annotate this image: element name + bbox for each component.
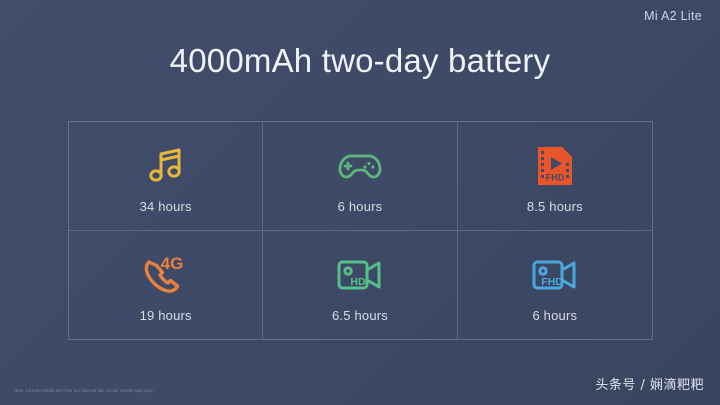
- disclaimer-text: Note: All test results are from our inte…: [14, 388, 154, 393]
- icon-badge-text: HD: [350, 276, 366, 288]
- usage-cell-calling: 4G 19 hours: [69, 231, 263, 340]
- usage-cell-music: 34 hours: [69, 122, 263, 231]
- icon-badge-text: 4G: [160, 254, 183, 273]
- usage-label: 19 hours: [140, 308, 192, 323]
- music-note-icon: [143, 142, 189, 190]
- usage-label: 34 hours: [140, 199, 192, 214]
- video-file-fhd-icon: FHD: [533, 142, 577, 190]
- usage-label: 6.5 hours: [332, 308, 388, 323]
- slide-background: Mi A2 Lite 4000mAh two-day battery 34 ho…: [0, 0, 720, 405]
- video-camera-fhd-icon: FHD: [529, 251, 581, 299]
- usage-cell-video-recording-hd: HD 6.5 hours: [263, 231, 457, 340]
- usage-cell-gaming: 6 hours: [263, 122, 457, 231]
- gamepad-icon: [335, 142, 385, 190]
- watermark-text: 头条号 / 娴滴粑粑: [595, 374, 704, 393]
- battery-usage-grid: 34 hours 6 hours: [68, 121, 653, 340]
- usage-cell-video-playback: FHD 8.5 hours: [458, 122, 652, 231]
- usage-label: 6 hours: [338, 199, 383, 214]
- phone-4g-icon: 4G: [139, 251, 193, 299]
- usage-label: 6 hours: [532, 308, 577, 323]
- product-brand-label: Mi A2 Lite: [644, 9, 702, 23]
- icon-badge-text: FHD: [541, 276, 563, 288]
- video-camera-hd-icon: HD: [334, 251, 386, 299]
- usage-cell-video-recording-fhd: FHD 6 hours: [458, 231, 652, 340]
- usage-label: 8.5 hours: [527, 199, 583, 214]
- icon-badge-text: FHD: [546, 172, 565, 182]
- page-title: 4000mAh two-day battery: [0, 43, 720, 79]
